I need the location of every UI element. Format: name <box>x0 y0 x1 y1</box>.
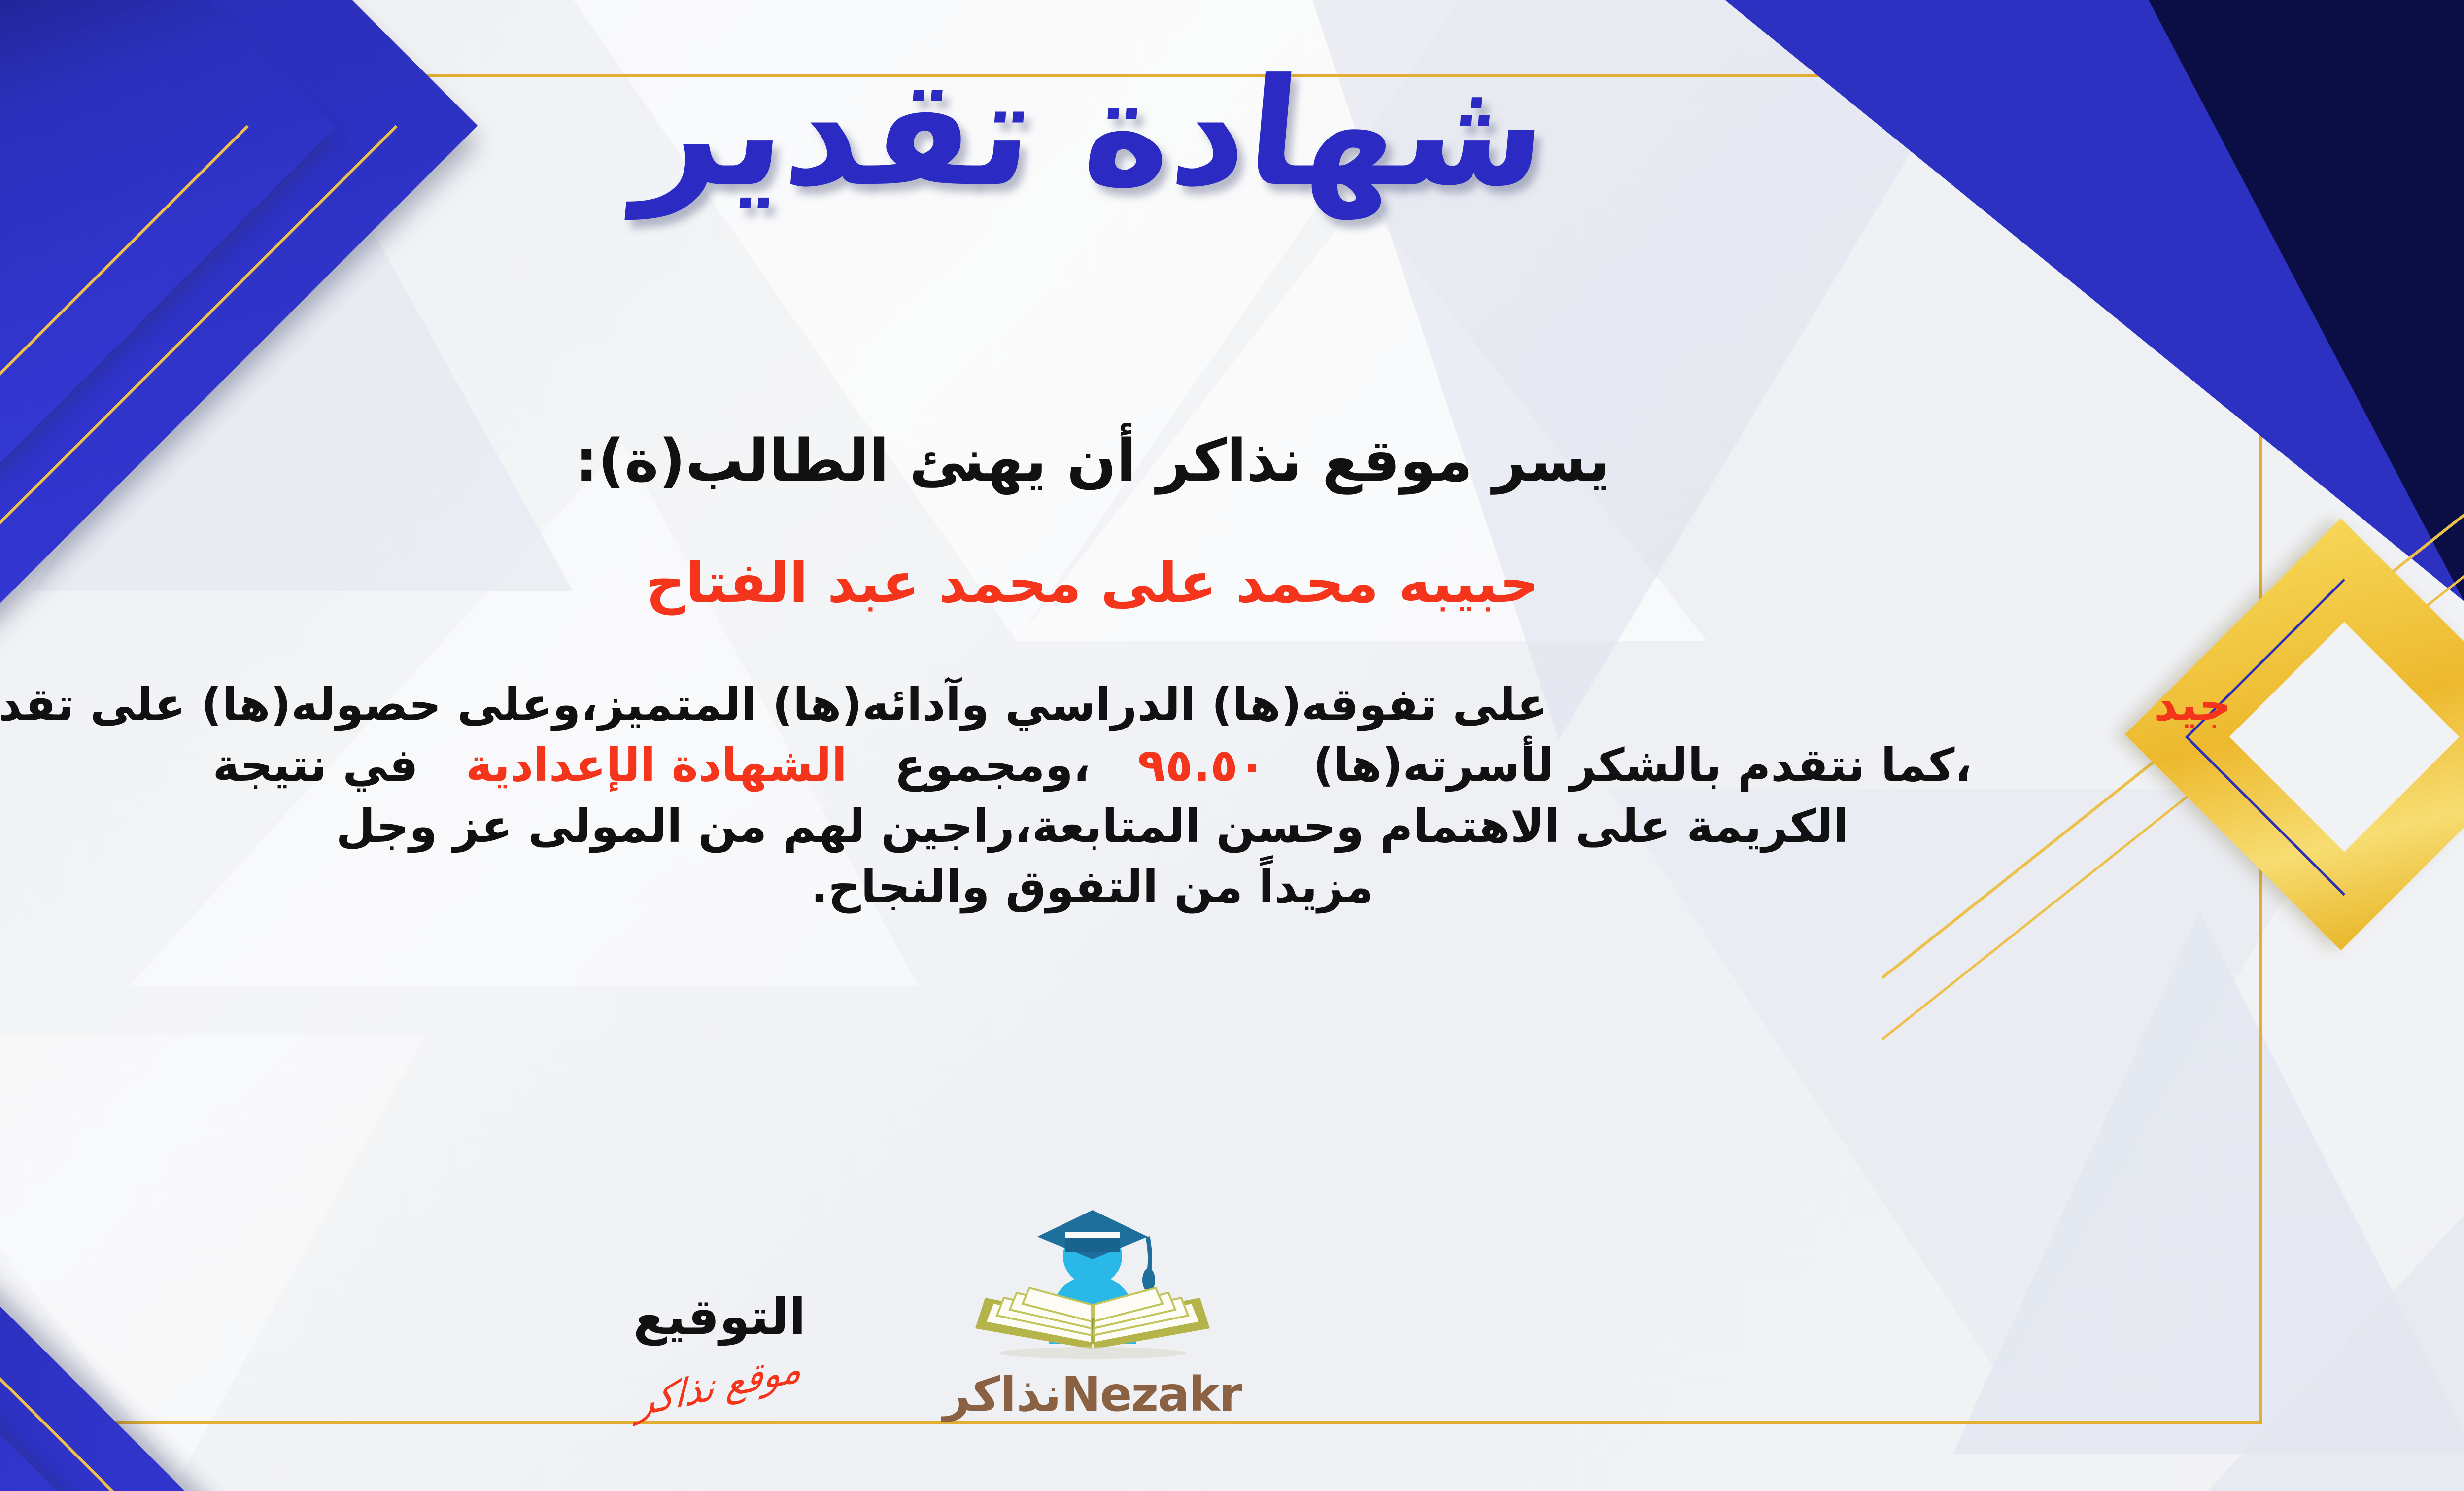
body-line-2-suffix: ،كما نتقدم بالشكر لأسرته(ها) <box>1313 739 1972 792</box>
signature-label: التوقيع <box>517 1288 922 1346</box>
certificate-body: جيد على تفوقه(ها) الدراسي وآدائه(ها) الم… <box>0 674 2252 917</box>
student-name: حبيبه محمد على محمد عبد الفتاح <box>0 551 2252 615</box>
certificate-canvas: شهادة تقدير يسر موقع نذاكر أن يهنئ الطال… <box>0 0 2464 1491</box>
body-line-2-prefix: في نتيجة <box>213 739 418 792</box>
grade-value: جيد <box>2154 674 2231 735</box>
body-line-2: ،كما نتقدم بالشكر لأسرته(ها)٩٥.٥٠،ومجموع… <box>0 735 2252 796</box>
exam-name: الشهادة الإعدادية <box>466 739 847 792</box>
graduate-on-book-icon <box>955 1201 1231 1364</box>
body-line-4: مزيداً من التفوق والنجاح. <box>0 857 2252 917</box>
certificate-content: شهادة تقدير يسر موقع نذاكر أن يهنئ الطال… <box>0 0 2252 1491</box>
logo-name-arabic: نذاكر <box>943 1367 1061 1422</box>
body-line-1: جيد على تفوقه(ها) الدراسي وآدائه(ها) الم… <box>0 674 2252 735</box>
signature-block: التوقيع موقع نذاكر <box>517 1288 922 1407</box>
score-value: ٩٥.٥٠ <box>1138 739 1266 792</box>
logo-name-latin: Nezakr <box>1061 1367 1241 1422</box>
certificate-title: شهادة تقدير <box>0 59 2259 207</box>
body-line-2-mid: ،ومجموع <box>894 739 1091 792</box>
body-line-1-text: على تفوقه(ها) الدراسي وآدائه(ها) المتميز… <box>0 674 1548 735</box>
body-line-3: الكريمة على الاهتمام وحسن المتابعة،راجين… <box>0 796 2252 857</box>
logo-wordmark: Nezakrنذاكر <box>943 1367 1241 1422</box>
greeting-line: يسر موقع نذاكر أن يهنئ الطالب(ة): <box>0 426 2252 494</box>
signature-mark: موقع نذاكر <box>637 1345 803 1425</box>
site-logo: Nezakrنذاكر <box>871 1201 1314 1422</box>
